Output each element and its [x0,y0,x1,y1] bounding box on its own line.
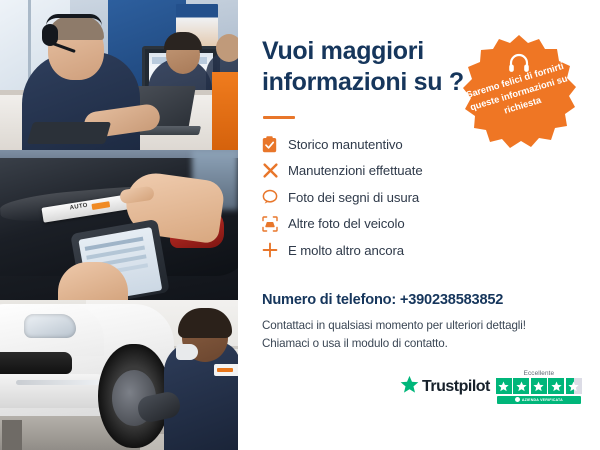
uniform-logo-decor [214,364,238,376]
list-item: E molto altro ancora [262,237,502,264]
list-item-label: Foto dei segni di usura [288,190,419,205]
trustpilot-rating: Eccellente [496,370,582,404]
tablet-on-desk-decor [27,122,111,144]
verified-badge: AZIENDA VERIFICATA [497,396,581,404]
photo-bumper-inspection [0,150,238,300]
speech-bubble-icon [262,189,288,205]
list-item: Foto dei segni di usura [262,184,502,211]
verified-label: AZIENDA VERIFICATA [522,398,563,402]
photo-wheel-service [0,300,238,450]
trustpilot-star-icon [400,375,419,399]
star-rating [496,378,582,394]
trustpilot-widget[interactable]: Trustpilot Eccellente [400,370,582,404]
star-filled [531,378,547,394]
headlight-decor [24,314,76,338]
chrome-trim-decor [16,380,102,385]
page-title: Vuoi maggiori informazioni su ? [262,36,472,97]
star-filled [496,378,512,394]
photo-column [0,0,238,450]
trustpilot-logo: Trustpilot [400,375,490,399]
phone-number[interactable]: Numero di telefono: +390238583852 [262,292,503,308]
person-head-3 [216,34,238,62]
list-item: Altre foto del veicolo [262,211,502,238]
list-item-label: Storico manutentivo [288,137,403,152]
wrench-cross-icon [262,162,288,179]
contact-line-2: Chiamaci o usa il modulo di contatto. [262,337,448,350]
list-item: Manutenzioni effettuate [262,158,502,185]
car-lift-leg-decor [2,420,22,450]
list-item-label: E molto altro ancora [288,243,404,258]
star-partial [566,378,582,394]
car-frame-icon [262,216,288,232]
contact-line-1: Contattaci in qualsiasi momento per ulte… [262,319,526,332]
title-divider [263,116,295,119]
feature-list: Storico manutentivo Manutenzioni effettu… [262,131,502,264]
star-filled [513,378,529,394]
content-panel: Vuoi maggiori informazioni su ? Saremo f… [238,0,600,450]
plus-icon [262,242,288,258]
trustpilot-name: Trustpilot [422,378,490,396]
promo-banner: Vuoi maggiori informazioni su ? Saremo f… [0,0,600,450]
photo-call-center [0,0,238,150]
car-grille-decor [0,352,72,374]
orange-cone-decor [212,72,238,150]
clipboard-check-icon [262,136,288,153]
list-item-label: Manutenzioni effettuate [288,163,423,178]
list-item: Storico manutentivo [262,131,502,158]
check-circle-icon [515,397,520,402]
list-item-label: Altre foto del veicolo [288,216,405,231]
headset-band-decor [46,14,102,26]
rating-label: Eccellente [524,370,555,377]
star-filled [548,378,564,394]
face-mask-decor [176,344,198,360]
